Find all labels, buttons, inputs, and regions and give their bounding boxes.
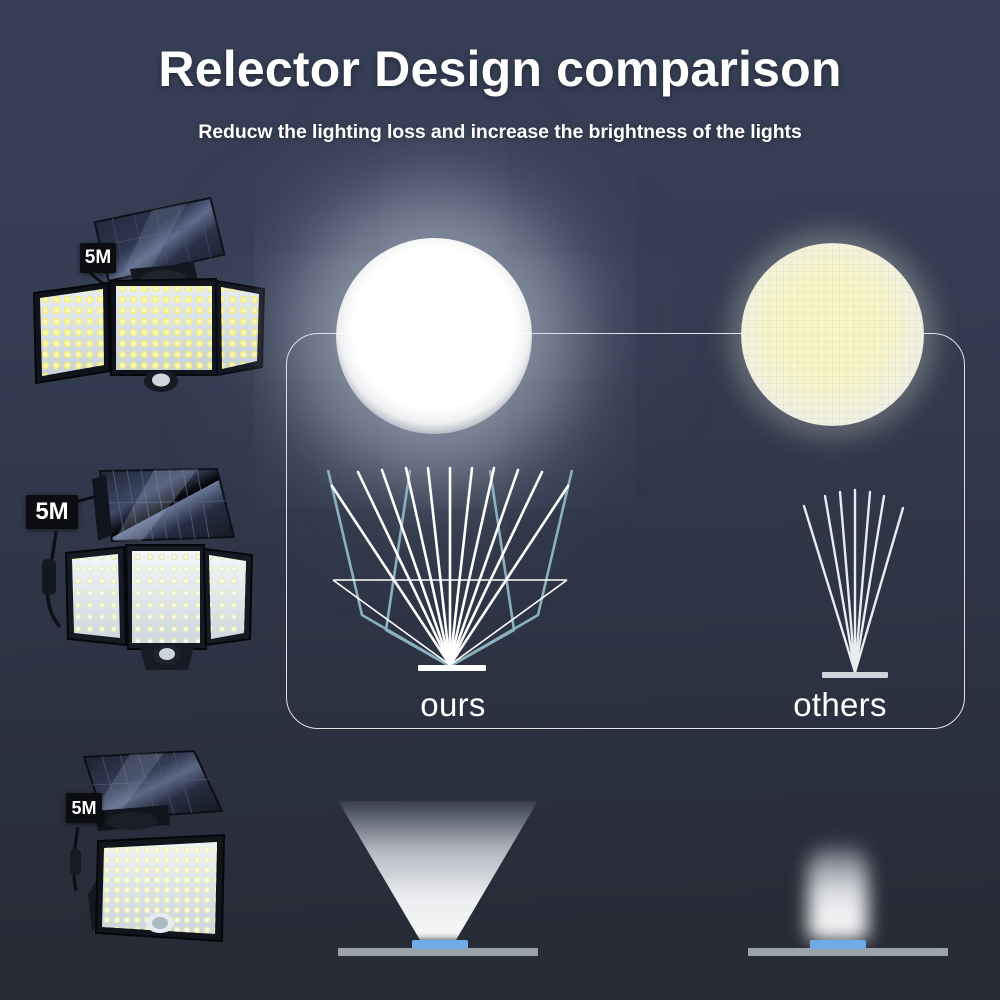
product-photo-triple-head-angled: 5M [18,195,308,410]
cable-length-badge: 5M [26,495,78,529]
infographic-canvas: Relector Design comparison Reducw the li… [0,0,1000,1000]
page-title: Relector Design comparison [0,40,1000,98]
bright-white-led-orb [336,238,532,434]
ours-ray-diagram [300,460,600,690]
cable-length-badge: 5M [66,793,102,823]
product-photo-triple-head-front: 5M [12,455,292,680]
beam-base-bar [338,948,538,956]
wide-beam-cone [338,795,538,940]
beam-led-bar [412,940,468,949]
wide-flood-beam-illustration [300,770,570,970]
cable-length-badge: 5M [80,243,116,273]
page-subtitle: Reducw the lighting loss and increase th… [0,121,1000,144]
others-label: others [765,686,915,724]
others-ray-diagram [770,480,940,690]
product-photo-single-panel-flood: 5M [42,745,292,960]
narrow-beam-cone [808,840,868,940]
dim-yellow-led-orb [741,243,924,426]
narrow-spot-beam-illustration [730,800,970,970]
solar-light-illustration-2 [12,455,292,680]
solar-light-illustration-3 [42,745,292,960]
ours-label: ours [378,686,528,724]
beam-base-bar [748,948,948,956]
solar-light-illustration-1 [18,195,308,410]
beam-led-bar [810,940,866,949]
